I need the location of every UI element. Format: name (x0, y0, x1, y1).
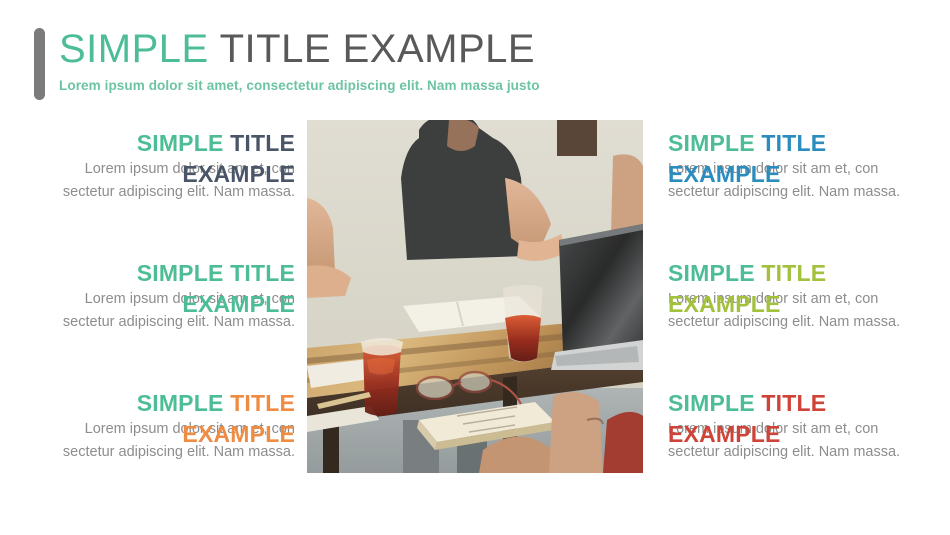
list-item: Lorem ipsum dolor sit am et, con sectetu… (40, 128, 295, 258)
item-heading: SIMPLE TITLE EXAMPLE (80, 388, 295, 450)
item-heading: SIMPLE TITLE EXAMPLE (80, 128, 295, 190)
item-heading: SIMPLE TITLE EXAMPLE (668, 128, 883, 190)
header-text-group: SIMPLE TITLE EXAMPLE Lorem ipsum dolor s… (59, 26, 540, 93)
photo-illustration (307, 120, 643, 473)
item-heading-accent: SIMPLE (137, 130, 224, 156)
list-item: Lorem ipsum dolor sit am et, con sectetu… (40, 258, 295, 388)
right-column: Lorem ipsum dolor sit am et, con sectetu… (668, 128, 923, 518)
list-item: Lorem ipsum dolor sit am et, con sectetu… (668, 258, 923, 388)
page-subtitle: Lorem ipsum dolor sit amet, consectetur … (59, 78, 540, 93)
page-title-main: TITLE EXAMPLE (209, 27, 535, 71)
item-heading-accent: SIMPLE (668, 390, 755, 416)
item-heading: SIMPLE TITLE EXAMPLE (668, 258, 883, 320)
item-heading-accent: SIMPLE (668, 260, 755, 286)
list-item: Lorem ipsum dolor sit am et, con sectetu… (668, 388, 923, 518)
list-item: Lorem ipsum dolor sit am et, con sectetu… (668, 128, 923, 258)
left-column: Lorem ipsum dolor sit am et, con sectetu… (40, 128, 295, 518)
item-heading-accent: SIMPLE (137, 390, 224, 416)
item-heading: SIMPLE TITLE EXAMPLE (80, 258, 295, 320)
page-title-accent: SIMPLE (59, 27, 209, 71)
item-heading-accent: SIMPLE (668, 130, 755, 156)
item-heading: SIMPLE TITLE EXAMPLE (668, 388, 883, 450)
page-header: SIMPLE TITLE EXAMPLE Lorem ipsum dolor s… (34, 28, 734, 100)
list-item: Lorem ipsum dolor sit am et, con sectetu… (40, 388, 295, 518)
center-photo (307, 120, 643, 473)
page-title: SIMPLE TITLE EXAMPLE (59, 26, 540, 72)
header-accent-bar (34, 28, 45, 100)
item-heading-accent: SIMPLE (137, 260, 224, 286)
